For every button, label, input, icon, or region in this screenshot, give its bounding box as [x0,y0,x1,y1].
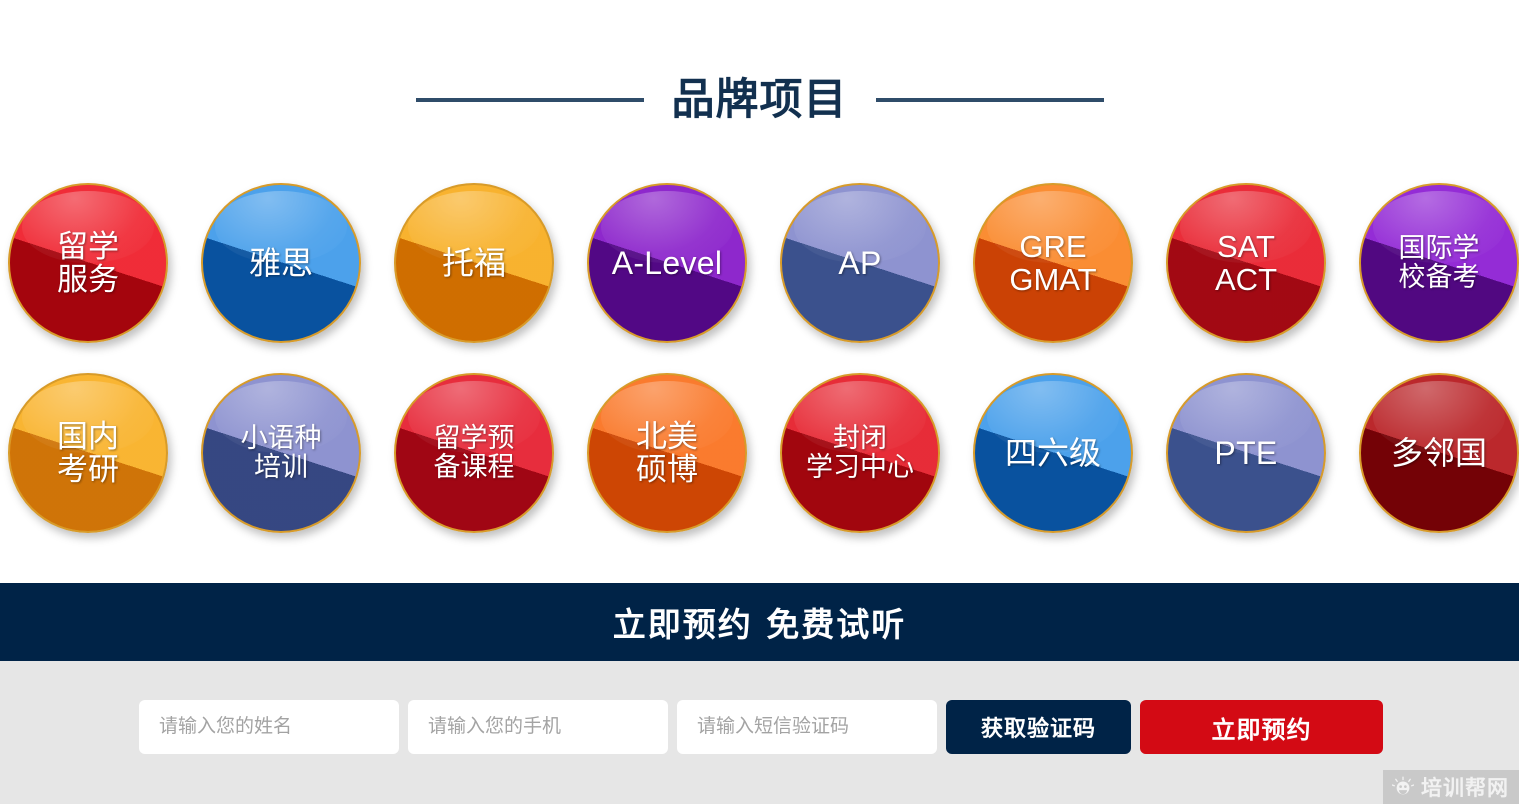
program-bubble[interactable]: 四六级 [973,373,1133,533]
program-bubble[interactable]: PTE [1166,373,1326,533]
program-bubble-label: 北美 硕博 [630,420,704,487]
form-fields: 获取验证码 立即预约 [139,700,1392,754]
program-bubble[interactable]: SAT ACT [1166,183,1326,343]
program-bubble[interactable]: 国内 考研 [8,373,168,533]
program-bubble[interactable]: 留学预 备课程 [394,373,554,533]
program-bubble-label: 国际学 校备考 [1393,234,1486,292]
name-input[interactable] [139,700,399,754]
program-bubble-label: SAT ACT [1209,230,1283,297]
program-bubble[interactable]: 留学 服务 [8,183,168,343]
program-bubble-label: GRE GMAT [1003,230,1102,297]
program-bubble[interactable]: 托福 [394,183,554,343]
program-bubble[interactable]: 小语种 培训 [201,373,361,533]
program-bubble[interactable]: 封闭 学习中心 [780,373,940,533]
program-row-1: 留学 服务雅思托福A-LevelAPGRE GMATSAT ACT国际学 校备考 [0,180,1519,370]
sms-code-input[interactable] [677,700,937,754]
program-bubble-label: 国内 考研 [51,420,125,487]
program-bubble-label: PTE [1208,436,1283,471]
program-bubble-label: AP [832,246,887,281]
site-watermark: 培训帮网 [1383,770,1519,804]
program-bubble-label: 多邻国 [1385,436,1493,471]
program-bubble-label: A-Level [606,246,729,281]
program-bubble-label: 留学 服务 [51,230,125,297]
program-bubble[interactable]: 北美 硕博 [587,373,747,533]
program-bubble[interactable]: 多邻国 [1359,373,1519,533]
program-bubble-label: 雅思 [243,246,319,281]
program-bubble-label: 封闭 学习中心 [800,424,920,482]
section-header: 品牌项目 [0,64,1519,136]
watermark-text: 培训帮网 [1421,772,1509,802]
title-rule-right [876,98,1104,102]
program-bubble[interactable]: AP [780,183,940,343]
phone-input[interactable] [408,700,668,754]
program-bubble-label: 托福 [436,246,512,281]
appointment-form: 获取验证码 立即预约 [0,661,1519,804]
appointment-banner: 立即预约 免费试听 [0,583,1519,661]
program-bubble[interactable]: A-Level [587,183,747,343]
program-bubble[interactable]: 雅思 [201,183,361,343]
program-bubble-label: 四六级 [999,436,1107,471]
sun-face-icon [1392,776,1414,798]
page-title: 品牌项目 [672,79,848,122]
appointment-banner-text: 立即预约 免费试听 [613,598,907,646]
program-bubble[interactable]: 国际学 校备考 [1359,183,1519,343]
program-bubble-label: 小语种 培训 [235,424,328,482]
program-bubble[interactable]: GRE GMAT [973,183,1133,343]
title-rule-left [416,98,644,102]
submit-appointment-button[interactable]: 立即预约 [1140,700,1383,754]
program-grid: 留学 服务雅思托福A-LevelAPGRE GMATSAT ACT国际学 校备考… [0,180,1519,560]
get-sms-code-button[interactable]: 获取验证码 [946,700,1131,754]
program-row-2: 国内 考研小语种 培训留学预 备课程北美 硕博封闭 学习中心四六级PTE多邻国 [0,370,1519,560]
program-bubble-label: 留学预 备课程 [428,424,521,482]
